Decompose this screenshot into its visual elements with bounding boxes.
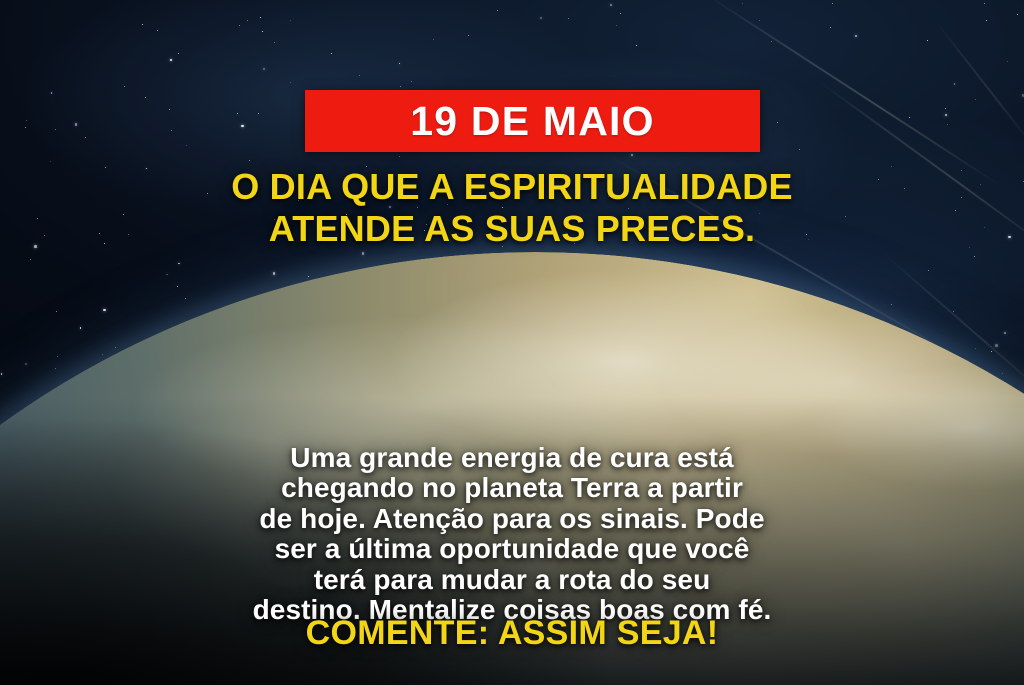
body-line: de hoje. Atenção para os sinais. Pode <box>0 504 1024 534</box>
body-line: chegando no planeta Terra a partir <box>0 473 1024 503</box>
poster-canvas: 19 DE MAIO O DIA QUE A ESPIRITUALIDADE A… <box>0 0 1024 685</box>
poster-content: 19 DE MAIO O DIA QUE A ESPIRITUALIDADE A… <box>0 0 1024 685</box>
body-line: Uma grande energia de cura está <box>0 443 1024 473</box>
headline-line-1: O DIA QUE A ESPIRITUALIDADE <box>231 166 792 207</box>
date-banner: 19 DE MAIO <box>305 90 760 152</box>
body-line: terá para mudar a rota do seu <box>0 565 1024 595</box>
cta-label: COMENTE: ASSIM SEJA! <box>306 614 719 652</box>
headline: O DIA QUE A ESPIRITUALIDADE ATENDE AS SU… <box>0 166 1024 250</box>
headline-line-2: ATENDE AS SUAS PRECES. <box>0 208 1024 250</box>
body-paragraph: Uma grande energia de cura está chegando… <box>0 443 1024 625</box>
body-line: ser a última oportunidade que você <box>0 534 1024 564</box>
call-to-action: COMENTE: ASSIM SEJA! <box>0 614 1024 653</box>
date-banner-label: 19 DE MAIO <box>410 101 654 142</box>
